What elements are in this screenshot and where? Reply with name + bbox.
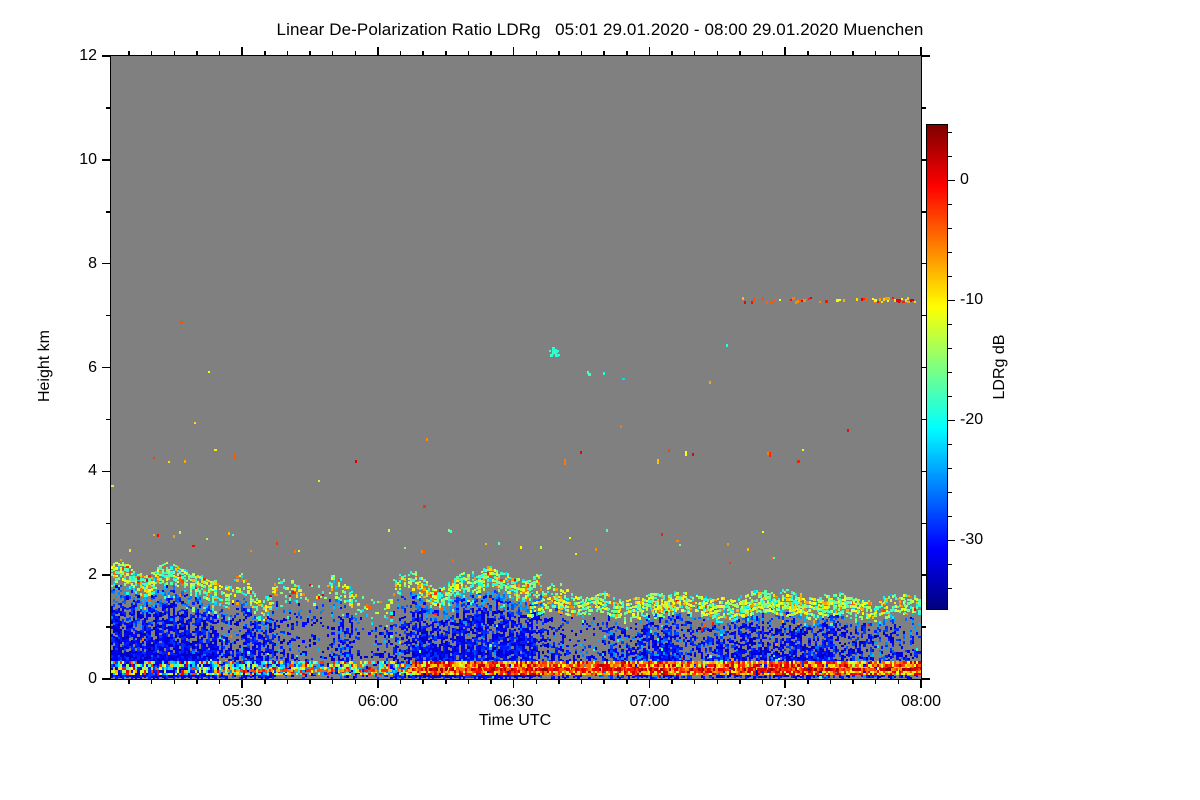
colorbar-tick-minor bbox=[948, 156, 952, 158]
y-axis-title: Height km bbox=[36, 330, 54, 402]
x-tick-minor-top bbox=[422, 51, 424, 56]
y-tick-minor bbox=[106, 523, 111, 525]
x-tick-minor-top bbox=[762, 51, 764, 56]
plot-area: 02468101205:3006:0006:3007:0007:3008:00 bbox=[110, 55, 922, 680]
y-tick-minor bbox=[106, 211, 111, 213]
x-tick-label: 06:00 bbox=[358, 693, 398, 711]
y-tick-minor-right bbox=[921, 107, 926, 109]
y-tick-label: 6 bbox=[88, 359, 97, 377]
x-tick-minor bbox=[603, 679, 605, 684]
x-tick-minor-top bbox=[739, 51, 741, 56]
x-tick-minor-top bbox=[400, 51, 402, 56]
x-tick-minor-top bbox=[671, 51, 673, 56]
x-tick-minor-top bbox=[219, 51, 221, 56]
x-tick-minor-top bbox=[309, 51, 311, 56]
x-tick-minor bbox=[626, 679, 628, 684]
colorbar-tick-label: -30 bbox=[960, 531, 983, 549]
x-tick-minor-top bbox=[445, 51, 447, 56]
x-tick-major-top bbox=[513, 47, 515, 56]
colorbar-tick-minor bbox=[948, 276, 952, 278]
y-tick-minor bbox=[106, 626, 111, 628]
x-tick-minor-top bbox=[174, 51, 176, 56]
colorbar-tick-minor bbox=[948, 444, 952, 446]
x-tick-minor bbox=[671, 679, 673, 684]
colorbar-tick-minor bbox=[948, 132, 952, 134]
x-tick-minor bbox=[355, 679, 357, 684]
colorbar-tick-minor bbox=[948, 468, 952, 470]
x-tick-major-top bbox=[784, 47, 786, 56]
colorbar-tick-minor bbox=[948, 324, 952, 326]
x-tick-minor-top bbox=[468, 51, 470, 56]
y-tick-major bbox=[102, 263, 111, 265]
x-tick-minor-top bbox=[536, 51, 538, 56]
colorbar-tick-major bbox=[948, 300, 955, 302]
y-tick-major bbox=[102, 159, 111, 161]
x-tick-minor bbox=[739, 679, 741, 684]
x-tick-minor bbox=[219, 679, 221, 684]
colorbar-tick-minor bbox=[948, 564, 952, 566]
colorbar-tick-minor bbox=[948, 204, 952, 206]
y-tick-major bbox=[102, 678, 111, 680]
x-tick-minor-top bbox=[852, 51, 854, 56]
colorbar-tick-label: -20 bbox=[960, 411, 983, 429]
x-tick-minor-top bbox=[717, 51, 719, 56]
x-tick-label: 06:30 bbox=[494, 693, 534, 711]
x-tick-minor bbox=[490, 679, 492, 684]
x-tick-minor-top bbox=[355, 51, 357, 56]
x-tick-minor-top bbox=[332, 51, 334, 56]
y-tick-major bbox=[102, 471, 111, 473]
x-tick-minor-top bbox=[287, 51, 289, 56]
figure-root: Linear De-Polarization Ratio LDRg 05:01 … bbox=[0, 0, 1200, 800]
x-tick-minor-top bbox=[490, 51, 492, 56]
x-tick-minor bbox=[807, 679, 809, 684]
y-tick-major-right bbox=[921, 678, 930, 680]
y-tick-label: 8 bbox=[88, 255, 97, 273]
x-tick-minor bbox=[898, 679, 900, 684]
colorbar-tick-label: 0 bbox=[960, 171, 969, 189]
y-tick-label: 4 bbox=[88, 462, 97, 480]
x-tick-minor bbox=[309, 679, 311, 684]
y-tick-minor-right bbox=[921, 626, 926, 628]
x-tick-minor-top bbox=[875, 51, 877, 56]
colorbar-tick-major bbox=[948, 180, 955, 182]
x-tick-minor-top bbox=[151, 51, 153, 56]
x-tick-major-top bbox=[920, 47, 922, 56]
colorbar-tick-major bbox=[948, 540, 955, 542]
x-tick-minor bbox=[581, 679, 583, 684]
x-tick-minor bbox=[196, 679, 198, 684]
x-tick-minor bbox=[762, 679, 764, 684]
y-tick-label: 12 bbox=[79, 47, 97, 65]
y-tick-label: 2 bbox=[88, 566, 97, 584]
y-tick-label: 10 bbox=[79, 151, 97, 169]
colorbar-title: LDRg dB bbox=[991, 335, 1009, 400]
x-tick-minor bbox=[400, 679, 402, 684]
x-tick-minor bbox=[422, 679, 424, 684]
page-title: Linear De-Polarization Ratio LDRg 05:01 … bbox=[0, 20, 1200, 40]
x-tick-minor bbox=[558, 679, 560, 684]
x-tick-minor bbox=[151, 679, 153, 684]
x-tick-minor-top bbox=[694, 51, 696, 56]
x-axis-title: Time UTC bbox=[479, 712, 551, 730]
x-tick-minor bbox=[536, 679, 538, 684]
colorbar-tick-minor bbox=[948, 372, 952, 374]
x-tick-label: 07:30 bbox=[765, 693, 805, 711]
x-tick-minor-top bbox=[264, 51, 266, 56]
x-tick-minor-top bbox=[626, 51, 628, 56]
x-tick-minor bbox=[694, 679, 696, 684]
ldr-heatmap bbox=[111, 56, 921, 679]
heatmap-canvas-holder bbox=[111, 56, 921, 679]
colorbar: 0-10-20-30 bbox=[926, 124, 948, 610]
x-tick-major-top bbox=[649, 47, 651, 56]
x-tick-major-top bbox=[241, 47, 243, 56]
y-tick-minor bbox=[106, 419, 111, 421]
x-tick-minor bbox=[445, 679, 447, 684]
x-tick-minor-top bbox=[558, 51, 560, 56]
x-tick-major bbox=[377, 679, 379, 688]
y-tick-major bbox=[102, 574, 111, 576]
colorbar-tick-major bbox=[948, 420, 955, 422]
colorbar-tick-minor bbox=[948, 516, 952, 518]
y-tick-major-right bbox=[921, 55, 930, 57]
x-tick-minor-top bbox=[830, 51, 832, 56]
colorbar-tick-minor bbox=[948, 228, 952, 230]
colorbar-tick-minor bbox=[948, 396, 952, 398]
x-tick-label: 07:00 bbox=[629, 693, 669, 711]
x-tick-minor bbox=[287, 679, 289, 684]
colorbar-tick-minor bbox=[948, 588, 952, 590]
y-tick-minor bbox=[106, 107, 111, 109]
x-tick-minor-top bbox=[807, 51, 809, 56]
colorbar-tick-minor bbox=[948, 492, 952, 494]
colorbar-gradient bbox=[926, 124, 948, 610]
colorbar-tick-minor bbox=[948, 252, 952, 254]
x-tick-minor-top bbox=[898, 51, 900, 56]
x-tick-major bbox=[241, 679, 243, 688]
x-tick-minor bbox=[875, 679, 877, 684]
x-tick-minor-top bbox=[581, 51, 583, 56]
y-tick-major bbox=[102, 55, 111, 57]
x-tick-minor bbox=[332, 679, 334, 684]
x-tick-minor-top bbox=[603, 51, 605, 56]
colorbar-tick-minor bbox=[948, 348, 952, 350]
x-tick-minor-top bbox=[196, 51, 198, 56]
x-tick-minor bbox=[717, 679, 719, 684]
x-tick-minor bbox=[852, 679, 854, 684]
x-tick-minor bbox=[174, 679, 176, 684]
x-tick-major bbox=[513, 679, 515, 688]
x-tick-major bbox=[649, 679, 651, 688]
y-tick-major bbox=[102, 367, 111, 369]
x-tick-minor bbox=[468, 679, 470, 684]
x-tick-minor bbox=[264, 679, 266, 684]
x-tick-major bbox=[920, 679, 922, 688]
x-tick-minor-top bbox=[128, 51, 130, 56]
x-tick-major-top bbox=[377, 47, 379, 56]
x-tick-label: 08:00 bbox=[901, 693, 941, 711]
x-tick-minor bbox=[830, 679, 832, 684]
x-tick-label: 05:30 bbox=[222, 693, 262, 711]
x-tick-minor bbox=[128, 679, 130, 684]
y-tick-label: 0 bbox=[88, 670, 97, 688]
y-tick-minor bbox=[106, 315, 111, 317]
x-tick-major bbox=[784, 679, 786, 688]
colorbar-tick-label: -10 bbox=[960, 291, 983, 309]
